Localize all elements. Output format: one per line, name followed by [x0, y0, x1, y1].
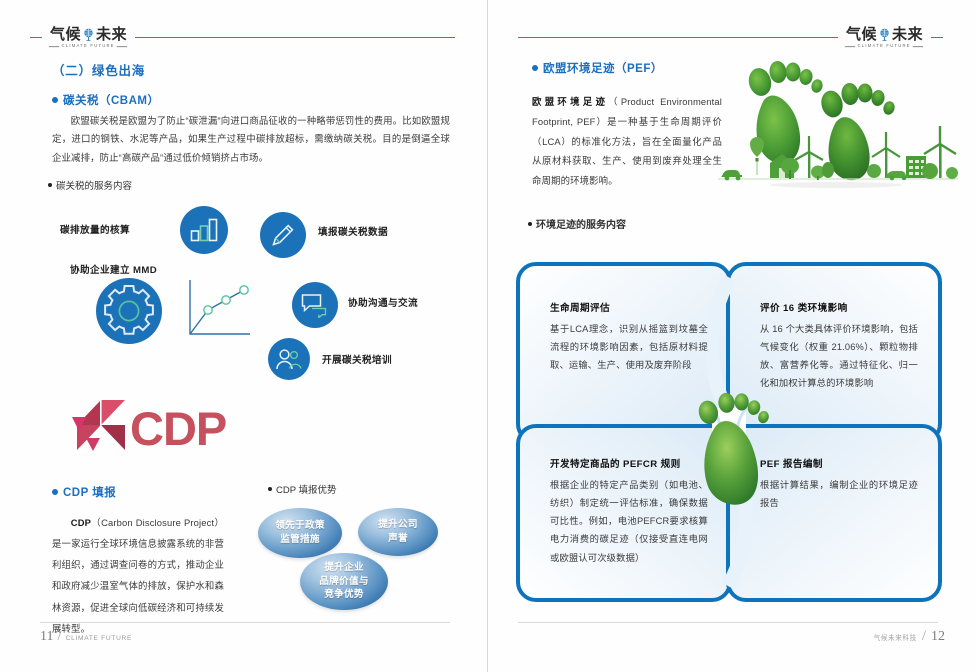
bullet-dot-icon: [48, 183, 52, 187]
paragraph-cbam: 欧盟碳关税是欧盟为了防止“碳泄漏”向进口商品征收的一种略带惩罚性的费用。比如欧盟…: [52, 112, 450, 167]
rule-left: [30, 37, 42, 38]
footer-slash: /: [922, 628, 926, 645]
heading-pef-services-label: 环境足迹的服务内容: [536, 216, 626, 231]
cdp-wordmark: CDP: [130, 410, 226, 448]
rule-left: [518, 37, 838, 38]
brand-logo: 气候 未来 CLIMATE FUTURE: [42, 27, 135, 48]
pef-services-petal-diagram: 生命周期评估 基于LCA理念，识别从摇篮到坟墓全流程的环境影响因素，包括原材料提…: [516, 248, 942, 602]
chat-bubbles-icon: [292, 282, 338, 328]
people-icon: [268, 338, 310, 380]
diagram-label-4: 开展碳关税培训: [322, 352, 392, 366]
paragraph-cdp: CDP（Carbon Disclosure Project）是一家运行全球环境信…: [52, 512, 224, 639]
heading-pef-label: 欧盟环境足迹（PEF）: [543, 60, 663, 76]
brand-logo-text-part-1: 气候: [50, 27, 81, 42]
cdp-pinwheel-mark-icon: [72, 398, 130, 459]
rule-right: [931, 37, 943, 38]
advantage-bubble-1-label: 提升公司 声誉: [378, 518, 418, 545]
heading-cdp-label: CDP 填报: [63, 484, 116, 500]
heading-cdp: CDP 填报: [52, 484, 116, 500]
paragraph-cdp-lead: CDP: [71, 517, 91, 528]
petal-2: 开发特定商品的 PEFCR 规则 根据企业的特定产品类别（如电池、纺织）制定统一…: [550, 456, 708, 567]
brand-logo-text-part-1: 气候: [846, 27, 877, 42]
heading-cdp-advantages-label: CDP 填报优势: [276, 482, 337, 496]
footer-label: CLIMATE FUTURE: [66, 635, 132, 642]
tree-globe-mark-icon: [82, 28, 95, 41]
rule-right: [135, 37, 455, 38]
petal-2-body: 根据企业的特定产品类别（如电池、纺织）制定统一评估标准，确保数据可比性。例如，电…: [550, 476, 708, 567]
heading-pef-services: 环境足迹的服务内容: [528, 216, 626, 231]
page-left: 气候 未来 CLIMATE FUTURE: [0, 0, 487, 672]
bullet-dot-icon: [52, 489, 58, 495]
brand-logo-text-part-2: 未来: [96, 27, 127, 42]
bullet-dot-icon: [268, 487, 272, 491]
bullet-dot-icon: [528, 222, 532, 226]
footer-divider-right: [518, 622, 938, 623]
header-logo-bar-right: 气候 未来 CLIMATE FUTURE: [518, 24, 943, 50]
paragraph-pef: 欧盟环境足迹（Product Environmental Footprint, …: [532, 92, 722, 191]
brand-logo-tagline: CLIMATE FUTURE: [62, 43, 115, 48]
footer-right: 气候未来科技 / 12: [874, 628, 945, 645]
advantage-bubble-2: 提升企业 品牌价值与 竞争优势: [300, 553, 388, 610]
petal-1-title: 评价 16 类环境影响: [760, 300, 918, 314]
paragraph-pef-body: （Product Environmental Footprint, PEF）是一…: [532, 96, 722, 186]
footer-label: 气候未来科技: [874, 632, 917, 642]
cdp-logo: CDP: [72, 398, 226, 459]
petal-0: 生命周期评估 基于LCA理念，识别从摇篮到坟墓全流程的环境影响因素，包括原材料提…: [550, 300, 708, 374]
petal-3-body: 根据计算结果，编制企业的环境足迹报告: [760, 476, 918, 512]
heading-cbam: 碳关税（CBAM）: [52, 92, 160, 108]
bar-chart-icon: [180, 206, 228, 254]
page-right: 气候 未来 CLIMATE FUTURE: [488, 0, 975, 672]
petal-3: PEF 报告编制 根据计算结果，编制企业的环境足迹报告: [760, 456, 918, 512]
tagline-dash-right: [913, 45, 923, 46]
footer-divider-left: [40, 622, 450, 623]
advantage-bubble-2-label: 提升企业 品牌价值与 竞争优势: [319, 561, 368, 602]
bullet-dot-icon: [532, 65, 538, 71]
document-spread: 气候 未来 CLIMATE FUTURE: [0, 0, 975, 672]
petal-2-title: 开发特定商品的 PEFCR 规则: [550, 456, 708, 470]
footer-left: 11 / CLIMATE FUTURE: [40, 628, 132, 645]
heading-pef: 欧盟环境足迹（PEF）: [532, 60, 663, 76]
brand-logo-text: 气候 未来: [846, 27, 923, 42]
tagline-dash-left: [845, 45, 855, 46]
petal-1-body: 从 16 个大类具体评价环境影响，包括气候变化（权重 21.06%）、颗粒物排放…: [760, 320, 918, 393]
gear-icon: [96, 278, 162, 344]
diagram-label-2: 协助企业建立 MMD: [70, 262, 157, 276]
advantage-bubble-0: 领先于政策 监管措施: [258, 508, 342, 558]
petal-1: 评价 16 类环境影响 从 16 个大类具体评价环境影响，包括气候变化（权重 2…: [760, 300, 918, 393]
line-chart-icon: [186, 278, 252, 340]
brand-logo: 气候 未来 CLIMATE FUTURE: [838, 27, 931, 48]
petal-0-title: 生命周期评估: [550, 300, 708, 314]
petal-0-body: 基于LCA理念，识别从摇篮到坟墓全流程的环境影响因素，包括原材料提取、运输、生产…: [550, 320, 708, 374]
page-title: （二）绿色出海: [52, 60, 145, 79]
brand-logo-text: 气候 未来: [50, 27, 127, 42]
footer-page-number: 12: [931, 629, 945, 645]
tagline-dash-left: [49, 45, 59, 46]
cbam-services-diagram: 碳排放量的核算 填报碳关税数据 协助企业建立 MMD: [60, 200, 460, 380]
brand-logo-text-part-2: 未来: [892, 27, 923, 42]
footer-page-number: 11: [40, 629, 53, 645]
diagram-label-0: 碳排放量的核算: [60, 222, 130, 236]
heading-cdp-advantages: CDP 填报优势: [268, 482, 337, 496]
advantage-bubble-0-label: 领先于政策 监管措施: [275, 519, 324, 546]
tree-globe-mark-icon: [878, 28, 891, 41]
diagram-label-1: 填报碳关税数据: [318, 224, 388, 238]
header-logo-bar-left: 气候 未来 CLIMATE FUTURE: [30, 24, 455, 50]
tagline-dash-right: [117, 45, 127, 46]
heading-cbam-services-label: 碳关税的服务内容: [56, 178, 132, 192]
petal-3-title: PEF 报告编制: [760, 456, 918, 470]
paragraph-pef-lead: 欧盟环境足迹: [532, 96, 608, 107]
brand-logo-tagline-wrap: CLIMATE FUTURE: [49, 43, 128, 48]
green-footprints-eco-city-illustration: [716, 48, 960, 188]
heading-cbam-services: 碳关税的服务内容: [48, 178, 132, 192]
footer-slash: /: [57, 628, 61, 645]
advantage-bubble-1: 提升公司 声誉: [358, 508, 438, 556]
paragraph-cdp-body: （Carbon Disclosure Project）是一家运行全球环境信息披露…: [52, 517, 224, 634]
pencil-icon: [260, 212, 306, 258]
diagram-label-3: 协助沟通与交流: [348, 295, 418, 309]
bullet-dot-icon: [52, 97, 58, 103]
heading-cbam-label: 碳关税（CBAM）: [63, 92, 160, 108]
